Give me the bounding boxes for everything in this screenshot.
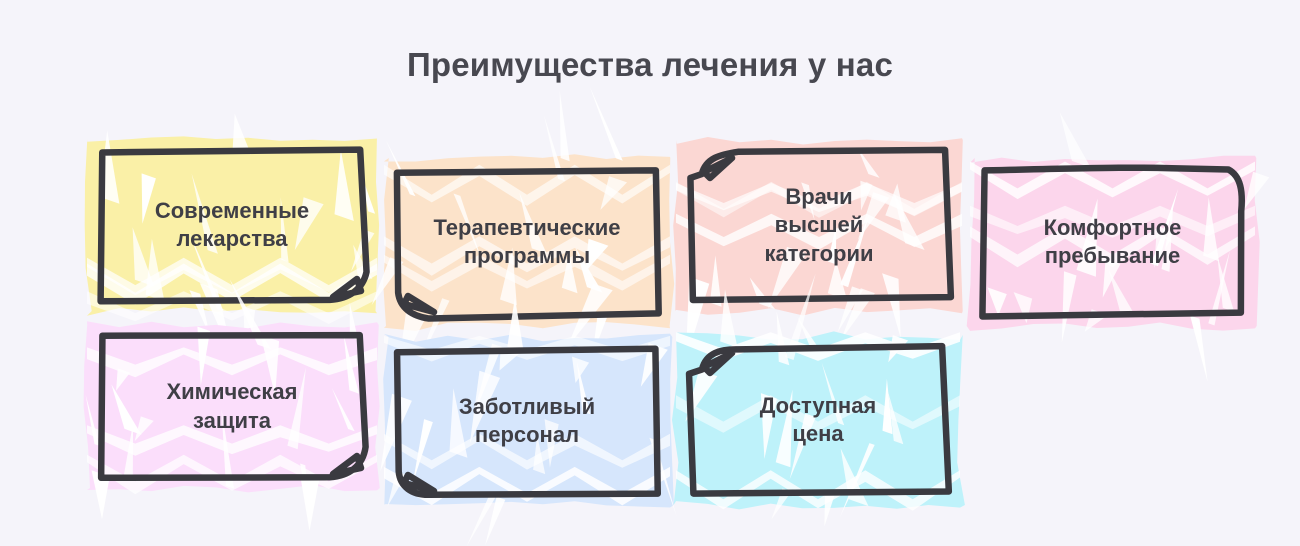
- benefit-card-label: Комфортное пребывание: [980, 166, 1245, 318]
- benefit-card-chemical-protection[interactable]: Химическая защита: [97, 333, 367, 480]
- benefit-card-label: Доступная цена: [686, 343, 950, 497]
- benefit-card-label: Заботливый персонал: [394, 345, 660, 497]
- benefit-card-label: Современные лекарства: [97, 147, 367, 303]
- card-marker-shape: [394, 166, 660, 318]
- benefit-card-caring-staff[interactable]: Заботливый персонал: [394, 345, 660, 497]
- infographic-canvas: Преимущества лечения у нас Современные л…: [0, 0, 1300, 546]
- benefit-card-comfortable-stay[interactable]: Комфортное пребывание: [980, 166, 1245, 318]
- card-marker-shape: [394, 345, 660, 497]
- benefit-card-label: Врачи высшей категории: [686, 148, 952, 303]
- card-marker-shape: [97, 333, 367, 480]
- benefit-card-modern-medicines[interactable]: Современные лекарства: [97, 147, 367, 303]
- benefit-card-label: Терапевтические программы: [394, 166, 660, 318]
- benefit-card-therapy-programs[interactable]: Терапевтические программы: [394, 166, 660, 318]
- card-marker-shape: [686, 343, 950, 497]
- card-marker-shape: [686, 148, 952, 303]
- page-title: Преимущества лечения у нас: [0, 46, 1300, 84]
- benefit-card-affordable-price[interactable]: Доступная цена: [686, 343, 950, 497]
- benefit-card-top-category-doctors[interactable]: Врачи высшей категории: [686, 148, 952, 303]
- card-marker-shape: [980, 166, 1245, 318]
- benefit-card-label: Химическая защита: [97, 333, 367, 480]
- card-marker-shape: [97, 147, 367, 303]
